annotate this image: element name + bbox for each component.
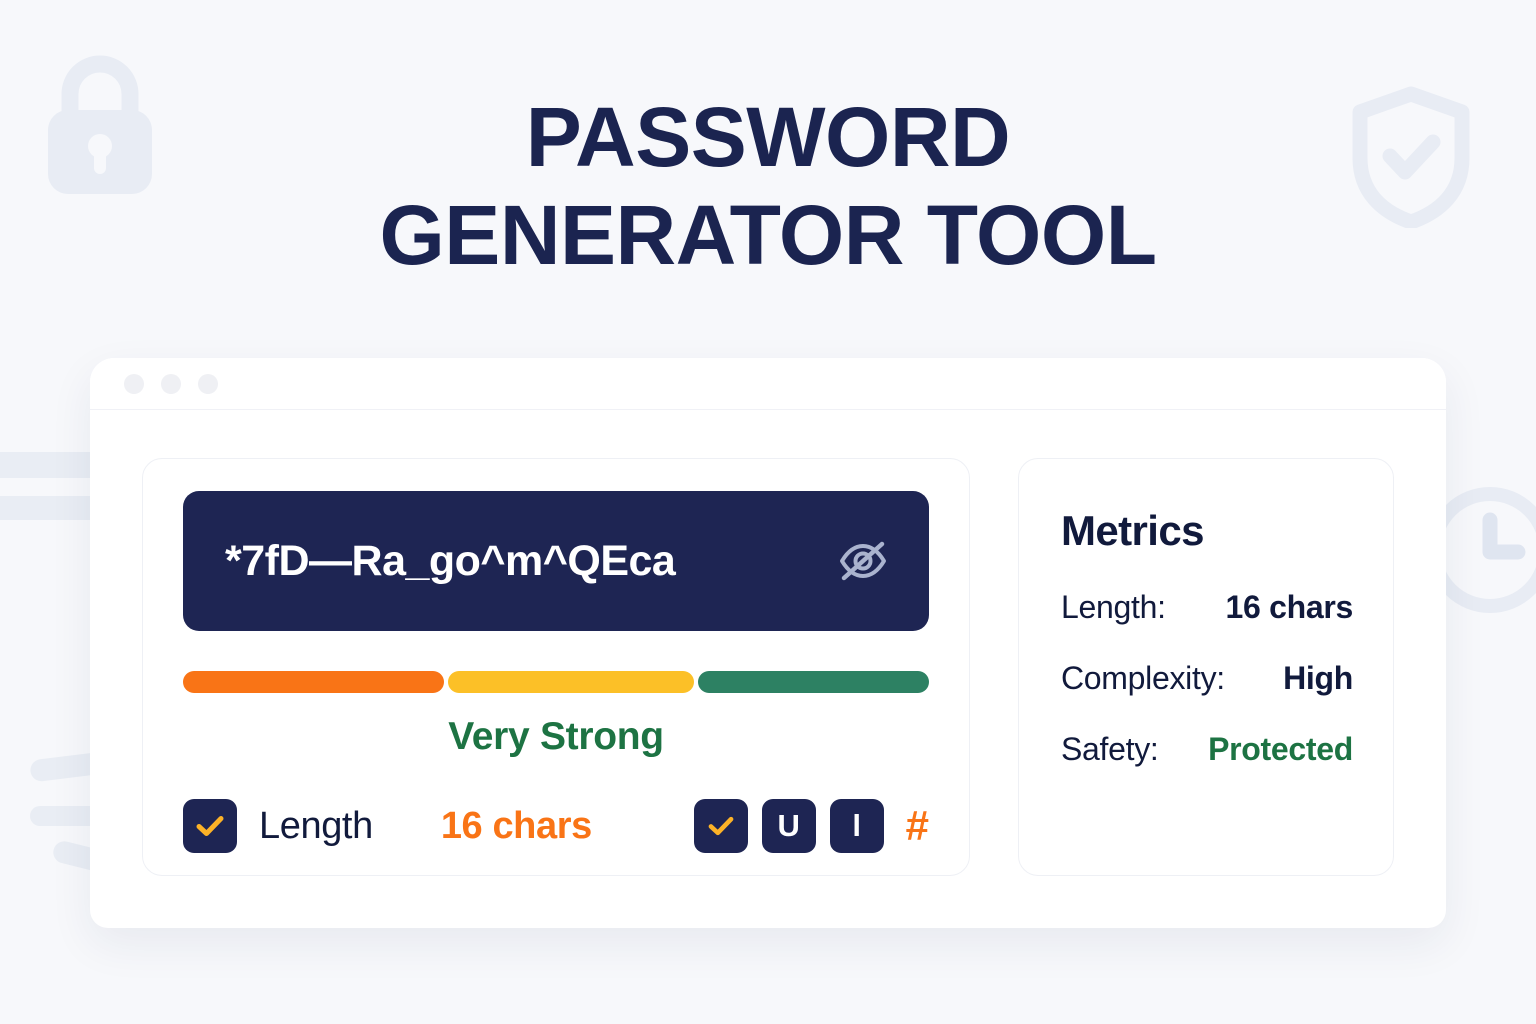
length-option-label: Length bbox=[259, 805, 373, 848]
strength-segment-medium bbox=[448, 671, 694, 693]
page-title: PASSWORD GENERATOR TOOL bbox=[0, 88, 1536, 285]
metric-key: Safety: bbox=[1061, 731, 1159, 768]
password-options-row: Length 16 chars U l # bbox=[183, 799, 929, 853]
length-checkbox[interactable] bbox=[183, 799, 237, 853]
password-generator-card: *7fD—Ra_go^m^QEca Very Strong bbox=[142, 458, 970, 876]
metric-value: 16 chars bbox=[1226, 589, 1353, 626]
strength-label: Very Strong bbox=[183, 715, 929, 759]
strength-segment-weak bbox=[183, 671, 444, 693]
browser-window: *7fD—Ra_go^m^QEca Very Strong bbox=[90, 358, 1446, 928]
metric-row-safety: Safety: Protected bbox=[1061, 731, 1353, 768]
window-dot-minimize[interactable] bbox=[161, 374, 181, 394]
metric-key: Length: bbox=[1061, 589, 1166, 626]
page-title-line-2: GENERATOR TOOL bbox=[379, 188, 1156, 282]
window-dot-maximize[interactable] bbox=[198, 374, 218, 394]
numbers-toggle[interactable]: # bbox=[906, 802, 929, 850]
metrics-panel: Metrics Length: 16 chars Complexity: Hig… bbox=[1018, 458, 1394, 876]
eye-off-icon[interactable] bbox=[835, 537, 891, 585]
metric-row-length: Length: 16 chars bbox=[1061, 589, 1353, 626]
metrics-title: Metrics bbox=[1061, 507, 1353, 555]
window-dot-close[interactable] bbox=[124, 374, 144, 394]
page-title-line-1: PASSWORD bbox=[526, 90, 1010, 184]
uppercase-toggle[interactable]: U bbox=[762, 799, 816, 853]
window-content: *7fD—Ra_go^m^QEca Very Strong bbox=[90, 410, 1446, 928]
strength-segment-strong bbox=[698, 671, 929, 693]
window-titlebar bbox=[90, 358, 1446, 410]
metric-value: High bbox=[1283, 660, 1353, 697]
metric-row-complexity: Complexity: High bbox=[1061, 660, 1353, 697]
metric-value: Protected bbox=[1208, 731, 1353, 768]
password-strength-bar bbox=[183, 671, 929, 693]
length-option-value: 16 chars bbox=[441, 805, 592, 848]
charset-badges: U l # bbox=[694, 799, 929, 853]
lowercase-toggle[interactable]: l bbox=[830, 799, 884, 853]
symbols-toggle[interactable] bbox=[694, 799, 748, 853]
password-display-field[interactable]: *7fD—Ra_go^m^QEca bbox=[183, 491, 929, 631]
password-value: *7fD—Ra_go^m^QEca bbox=[225, 537, 675, 586]
metric-key: Complexity: bbox=[1061, 660, 1225, 697]
length-option-group: Length 16 chars bbox=[183, 799, 592, 853]
